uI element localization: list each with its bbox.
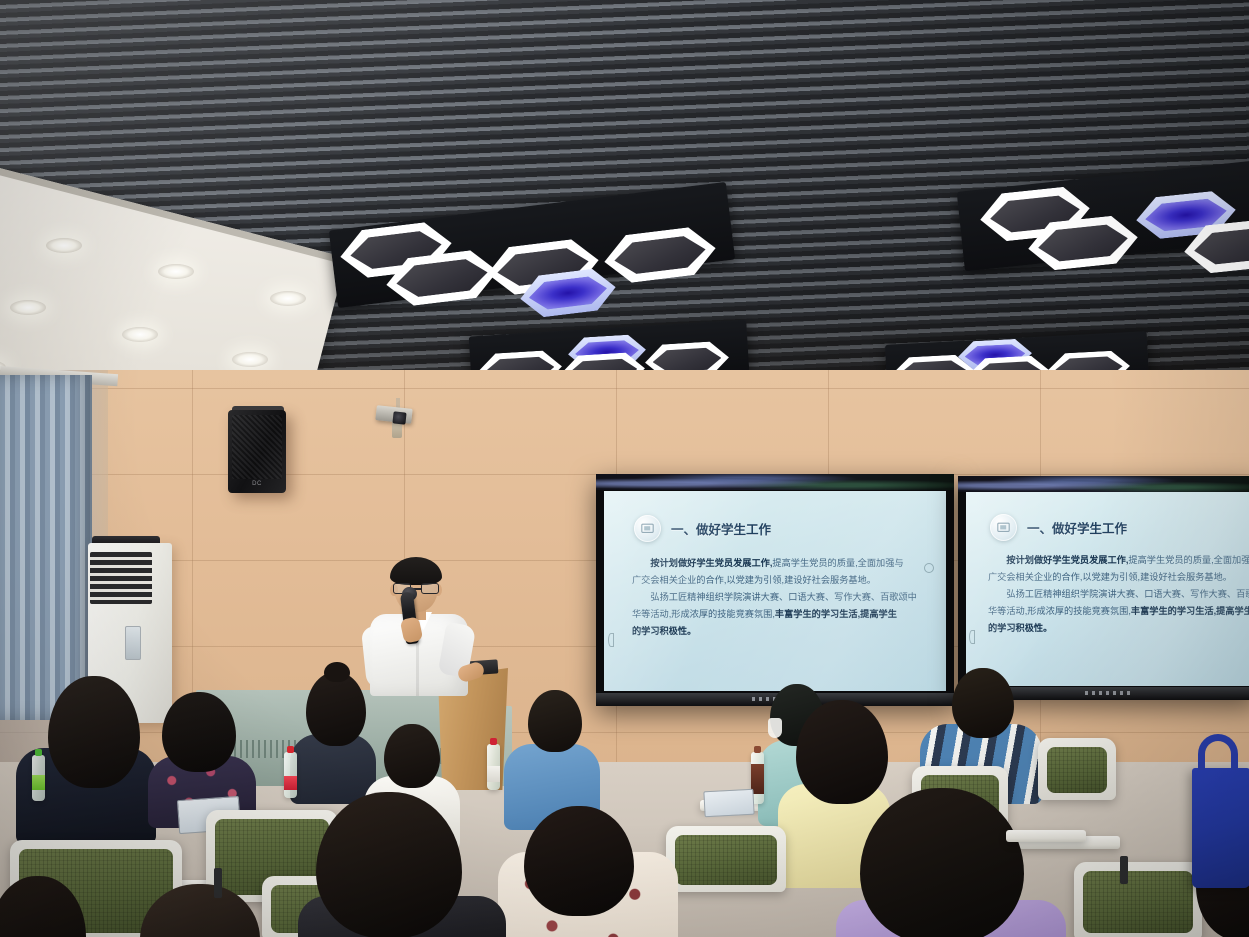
- ac-vent-grille: [90, 552, 152, 604]
- downlight-icon: [122, 327, 158, 342]
- attendee-head: [384, 724, 440, 788]
- downlight-icon: [232, 352, 268, 367]
- screen-top-decor: [958, 476, 1249, 492]
- projection-screen-right[interactable]: 一、做好学生工作 按计划做好学生党员发展工作,提高学生党员的质量,全面加强与广交…: [958, 476, 1249, 700]
- tote-bag[interactable]: [1192, 768, 1249, 888]
- water-bottle: [487, 744, 500, 790]
- slide-paragraph: 广交会相关企业的合作,以党建为引领,建设好社会服务基地。: [988, 569, 1249, 585]
- tote-handle: [1198, 734, 1238, 770]
- attendee-head: [162, 692, 236, 772]
- presentation-board-icon: [990, 514, 1017, 541]
- chair[interactable]: [666, 826, 786, 892]
- downlight-icon: [46, 238, 82, 253]
- bottle-cap: [754, 746, 761, 753]
- slide-body-right: 按计划做好学生党员发展工作,提高学生党员的质量,全面加强与广交会相关企业的合作,…: [988, 552, 1249, 637]
- slide-body-left: 按计划做好学生党员发展工作,提高学生党员的质量,全面加强与广交会相关企业的合作,…: [632, 555, 932, 640]
- slide-paragraph: 的学习积极性。: [632, 623, 932, 639]
- slide-paragraph: 广交会相关企业的合作,以党建为引领,建设好社会服务基地。: [632, 572, 932, 588]
- presenter-hair: [390, 557, 442, 585]
- side-tablet-arm: [1006, 830, 1086, 842]
- bottle-cap: [35, 749, 42, 756]
- slide-paragraph: 的学习积极性。: [988, 620, 1249, 636]
- bottle-label: [284, 776, 297, 790]
- speaker-brand-label: DC: [252, 481, 262, 487]
- desk-support: [214, 868, 222, 898]
- attendee-head: [528, 690, 582, 752]
- ac-control-panel[interactable]: [125, 626, 141, 660]
- attendee-head: [306, 672, 366, 746]
- camera-lens-icon: [392, 411, 406, 424]
- slide-header-left: 一、做好学生工作: [634, 515, 771, 542]
- slide-paragraph: 华等活动,形成浓厚的技能竞赛氛围,丰富学生的学习生活,提高学生: [988, 603, 1249, 619]
- attendee-head: [796, 700, 888, 804]
- projection-screen-left[interactable]: 一、做好学生工作 按计划做好学生党员发展工作,提高学生党员的质量,全面加强与广交…: [596, 474, 954, 706]
- screen-display-right: 一、做好学生工作 按计划做好学生党员发展工作,提高学生党员的质量,全面加强与广交…: [966, 492, 1249, 686]
- bottle-cap: [490, 738, 497, 745]
- attendee-head: [952, 668, 1014, 738]
- laptop[interactable]: [703, 789, 754, 818]
- slide-title-right: 一、做好学生工作: [1027, 518, 1127, 537]
- screen-round-button[interactable]: [969, 630, 975, 644]
- wall-speaker: DC: [228, 410, 286, 493]
- attendee-head: [48, 676, 140, 788]
- chair[interactable]: [1038, 738, 1116, 800]
- bottle-label: [32, 775, 45, 790]
- screen-display-left: 一、做好学生工作 按计划做好学生党员发展工作,提高学生党员的质量,全面加强与广交…: [604, 491, 946, 691]
- downlight-icon: [270, 291, 306, 306]
- desk-support: [1120, 856, 1128, 884]
- screen-round-button[interactable]: [924, 563, 934, 573]
- attendee-head: [524, 806, 634, 916]
- slide-header-right: 一、做好学生工作: [990, 514, 1127, 541]
- slide-paragraph: 华等活动,形成浓厚的技能竞赛氛围,丰富学生的学习生活,提高学生: [632, 606, 932, 622]
- screen-top-decor: [596, 474, 954, 490]
- chair[interactable]: [1074, 862, 1202, 937]
- attendee-hair-bun: [324, 662, 350, 682]
- bottle-cap: [287, 746, 294, 753]
- bottle-label: [487, 766, 500, 782]
- water-bottle: [284, 752, 297, 798]
- attendee-head: [316, 792, 462, 937]
- slide-title-left: 一、做好学生工作: [671, 519, 771, 538]
- presenter-speaking: [358, 556, 488, 696]
- slide-paragraph: 弘扬工匠精神组织学院演讲大赛、口语大赛、写作大赛、百歌颂中: [988, 586, 1249, 602]
- face-mask: [768, 718, 782, 738]
- window-curtain[interactable]: [0, 375, 92, 720]
- water-bottle: [32, 755, 45, 801]
- presentation-board-icon: [634, 515, 661, 542]
- downlight-icon: [158, 264, 194, 279]
- slide-paragraph: 弘扬工匠精神组织学院演讲大赛、口语大赛、写作大赛、百歌颂中: [632, 589, 932, 605]
- screen-round-button[interactable]: [608, 633, 614, 647]
- slide-paragraph: 按计划做好学生党员发展工作,提高学生党员的质量,全面加强与: [988, 552, 1249, 568]
- slide-paragraph: 按计划做好学生党员发展工作,提高学生党员的质量,全面加强与: [632, 555, 932, 571]
- downlight-icon: [10, 300, 46, 315]
- lecture-hall-scene: DC 一、做好学生工作 按计划做好学生党员发展工作,提高学生党员的质量,全面加强…: [0, 0, 1249, 937]
